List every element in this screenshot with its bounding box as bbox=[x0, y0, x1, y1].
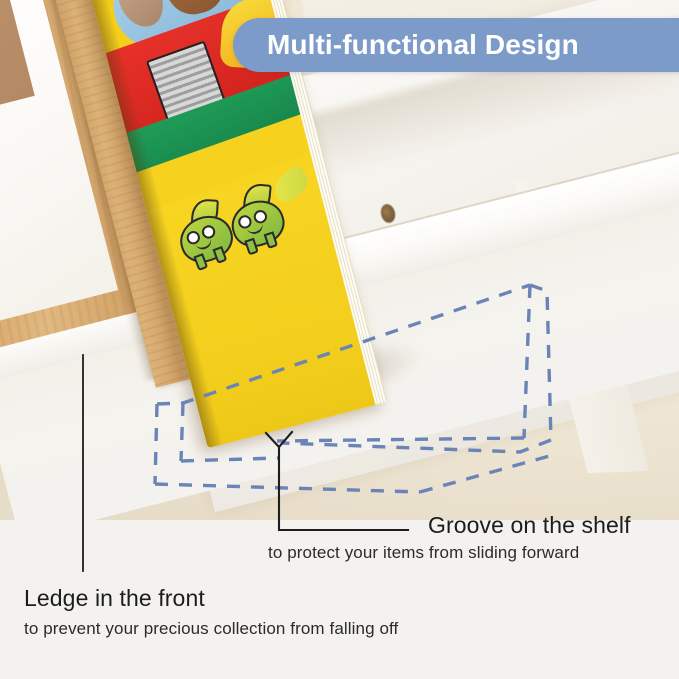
product-infographic: illustrated by Annie Kubler bbox=[0, 0, 679, 679]
callout-ledge-subtitle: to prevent your precious collection from… bbox=[24, 619, 398, 639]
banner-multi-functional-design: Multi-functional Design bbox=[233, 18, 679, 72]
banner-label: Multi-functional Design bbox=[267, 29, 579, 61]
product-photo: illustrated by Annie Kubler bbox=[0, 0, 679, 520]
callout-ledge-title: Ledge in the front bbox=[24, 585, 398, 612]
callout-groove: Groove on the shelf to protect your item… bbox=[428, 512, 631, 539]
callout-ledge: Ledge in the front to prevent your preci… bbox=[24, 585, 398, 639]
callout-groove-title: Groove on the shelf bbox=[428, 512, 631, 539]
callout-groove-subtitle: to protect your items from sliding forwa… bbox=[268, 543, 579, 563]
